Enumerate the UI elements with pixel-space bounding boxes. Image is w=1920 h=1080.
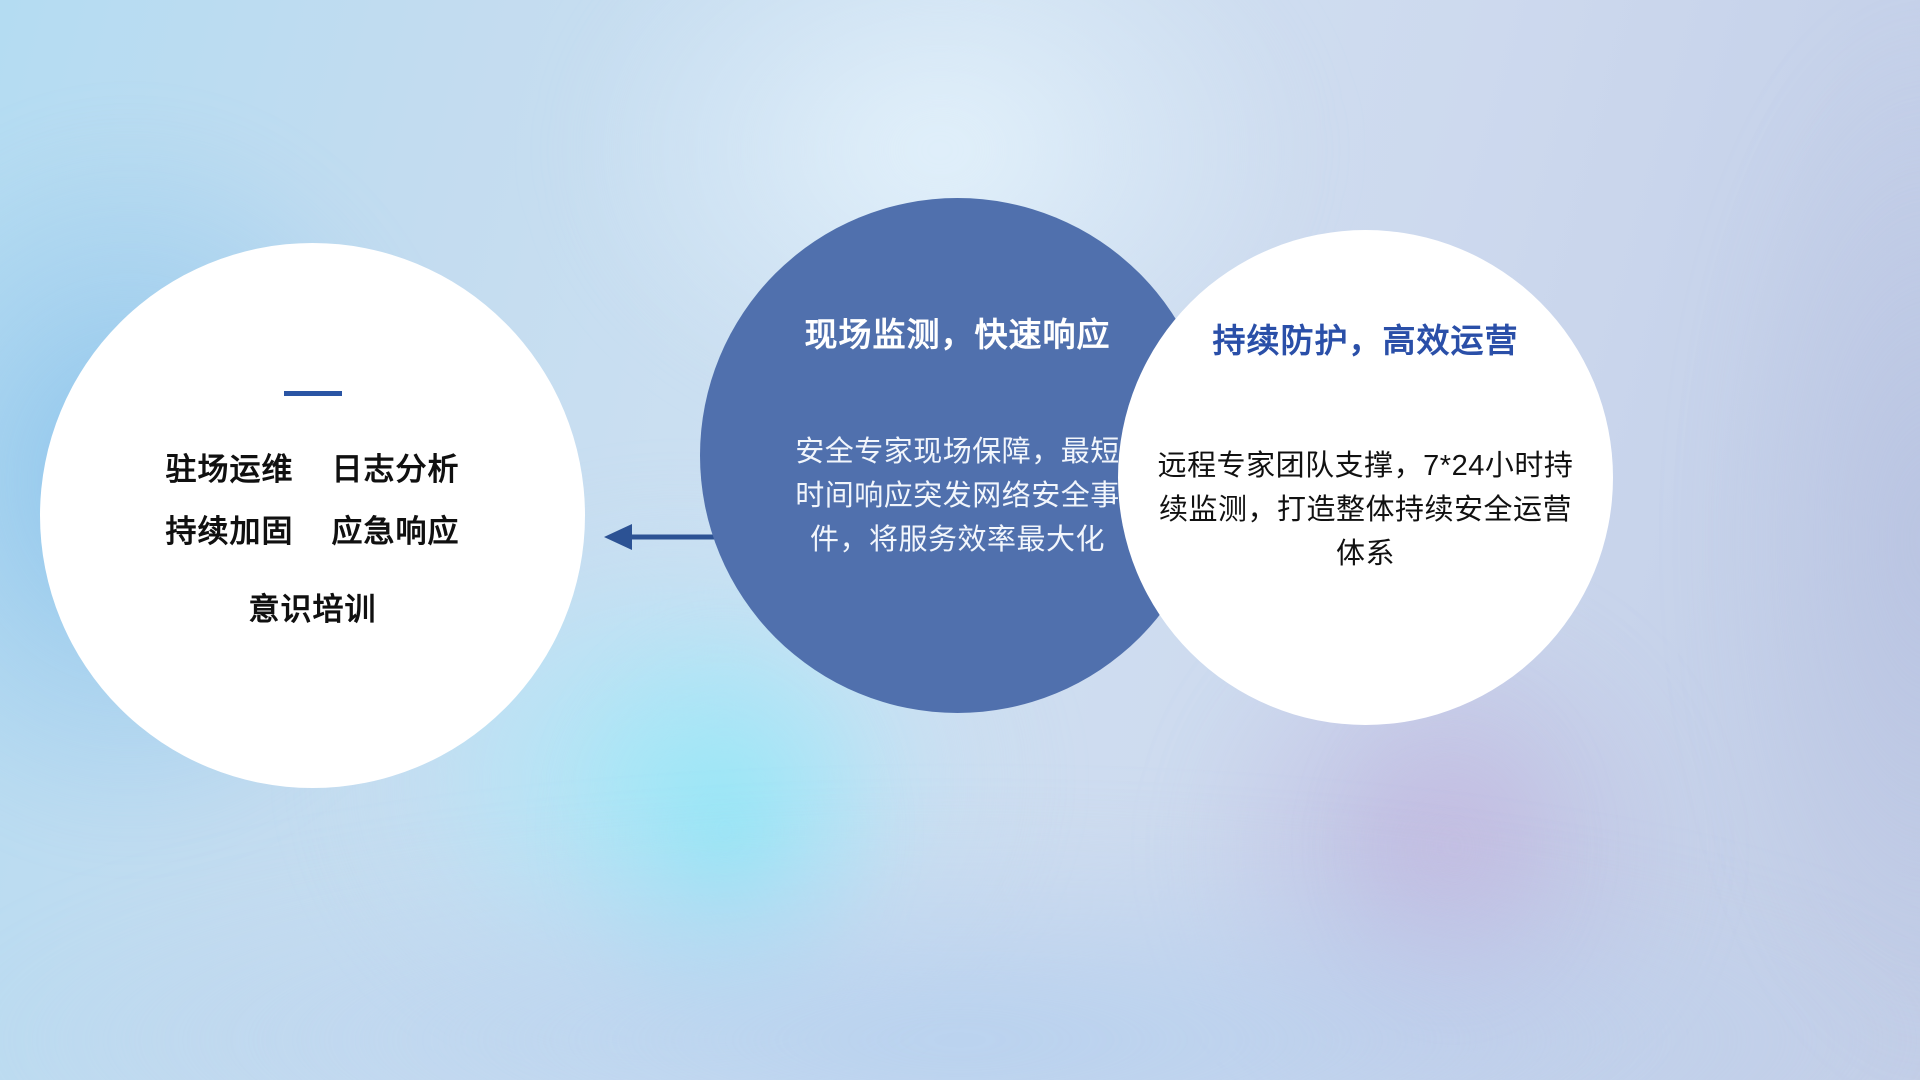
right-circle-title: 持续防护，高效运营 xyxy=(1152,314,1579,362)
service-capabilities-circle: 驻场运维 日志分析 持续加固 应急响应 意识培训 xyxy=(40,243,585,788)
capability-tag: 应急响应 xyxy=(332,513,460,550)
background-glow-bottom xyxy=(0,830,1920,1080)
background-glow-right-edge xyxy=(1700,0,1920,1080)
center-circle-body: 安全专家现场保障，最短时间响应突发网络安全事件，将服务效率最大化 xyxy=(793,430,1123,562)
background-glow-lilac-core xyxy=(1330,680,1580,1010)
capability-row: 意识培训 xyxy=(249,591,377,628)
center-circle-content: 现场监测，快速响应 安全专家现场保障，最短时间响应突发网络安全事件，将服务效率最… xyxy=(748,308,1167,562)
slide-canvas: 驻场运维 日志分析 持续加固 应急响应 意识培训 现场监测，快速响应 安全专家现… xyxy=(0,0,1920,1080)
continuous-protection-circle: 持续防护，高效运营 远程专家团队支撑，7*24小时持续监测，打造整体持续安全运营… xyxy=(1118,230,1613,725)
capability-tag: 意识培训 xyxy=(249,591,377,628)
capability-row: 持续加固 应急响应 xyxy=(166,513,460,550)
capability-tag: 持续加固 xyxy=(166,513,294,550)
center-circle-title: 现场监测，快速响应 xyxy=(748,308,1167,356)
capability-tag: 驻场运维 xyxy=(166,451,294,488)
title-divider xyxy=(284,391,342,396)
right-circle-content: 持续防护，高效运营 远程专家团队支撑，7*24小时持续监测，打造整体持续安全运营… xyxy=(1152,314,1579,576)
right-circle-body: 远程专家团队支撑，7*24小时持续监测，打造整体持续安全运营体系 xyxy=(1152,444,1579,576)
capability-row: 驻场运维 日志分析 xyxy=(166,451,460,488)
capability-tag: 日志分析 xyxy=(332,451,460,488)
left-circle-content: 驻场运维 日志分析 持续加固 应急响应 意识培训 xyxy=(40,391,585,654)
